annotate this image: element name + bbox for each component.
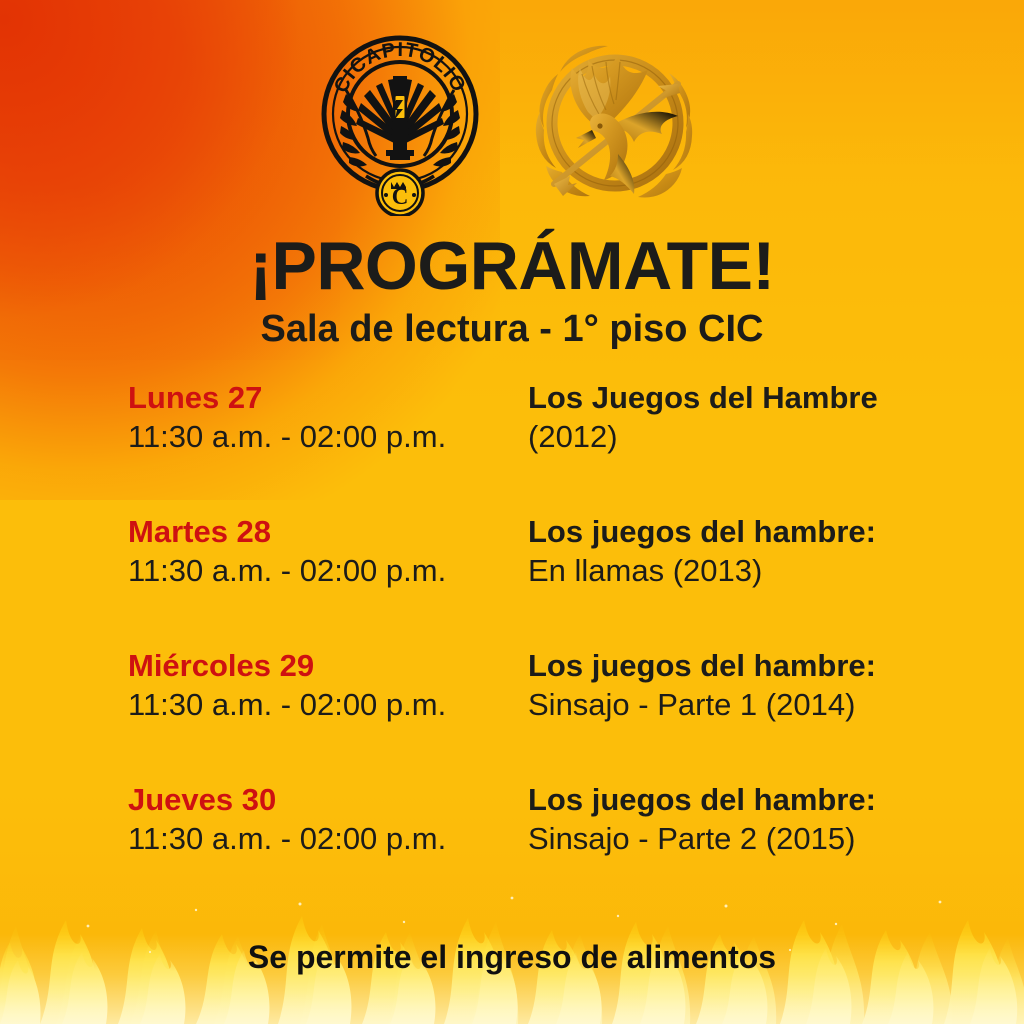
schedule-time: 11:30 a.m. - 02:00 p.m. xyxy=(128,685,528,725)
schedule-day: Jueves 30 xyxy=(128,782,528,819)
schedule-time: 11:30 a.m. - 02:00 p.m. xyxy=(128,819,528,859)
page-subtitle: Sala de lectura - 1° piso CIC xyxy=(0,310,1024,350)
schedule-what: Los juegos del hambre: En llamas (2013) xyxy=(528,514,928,591)
schedule-what: Los Juegos del Hambre (2012) xyxy=(528,380,928,457)
movie-subtitle: Sinsajo - Parte 2 (2015) xyxy=(528,819,928,859)
schedule-list: Lunes 27 11:30 a.m. - 02:00 p.m. Los Jue… xyxy=(128,380,928,916)
footer-note: Se permite el ingreso de alimentos xyxy=(0,939,1024,976)
schedule-day: Miércoles 29 xyxy=(128,648,528,685)
schedule-when: Lunes 27 11:30 a.m. - 02:00 p.m. xyxy=(128,380,528,457)
schedule-what: Los juegos del hambre: Sinsajo - Parte 1… xyxy=(528,648,928,725)
schedule-row: Jueves 30 11:30 a.m. - 02:00 p.m. Los ju… xyxy=(128,782,928,916)
schedule-row: Martes 28 11:30 a.m. - 02:00 p.m. Los ju… xyxy=(128,514,928,648)
schedule-when: Miércoles 29 11:30 a.m. - 02:00 p.m. xyxy=(128,648,528,725)
schedule-day: Lunes 27 xyxy=(128,380,528,417)
movie-subtitle: (2012) xyxy=(528,417,928,457)
schedule-time: 11:30 a.m. - 02:00 p.m. xyxy=(128,417,528,457)
schedule-row: Lunes 27 11:30 a.m. - 02:00 p.m. Los Jue… xyxy=(128,380,928,514)
movie-subtitle: Sinsajo - Parte 1 (2014) xyxy=(528,685,928,725)
schedule-when: Martes 28 11:30 a.m. - 02:00 p.m. xyxy=(128,514,528,591)
movie-title: Los juegos del hambre: xyxy=(528,514,928,551)
movie-subtitle: En llamas (2013) xyxy=(528,551,928,591)
header-block: ¡PROGRÁMATE! Sala de lectura - 1° piso C… xyxy=(0,232,1024,350)
schedule-what: Los juegos del hambre: Sinsajo - Parte 2… xyxy=(528,782,928,859)
capitol-seal-icon: CICAPITOLIO xyxy=(320,30,480,216)
page-title: ¡PROGRÁMATE! xyxy=(0,232,1024,300)
movie-title: Los juegos del hambre: xyxy=(528,648,928,685)
schedule-day: Martes 28 xyxy=(128,514,528,551)
mockingjay-icon xyxy=(526,34,704,212)
logo-row: CICAPITOLIO xyxy=(0,28,1024,218)
schedule-when: Jueves 30 11:30 a.m. - 02:00 p.m. xyxy=(128,782,528,859)
schedule-row: Miércoles 29 11:30 a.m. - 02:00 p.m. Los… xyxy=(128,648,928,782)
schedule-time: 11:30 a.m. - 02:00 p.m. xyxy=(128,551,528,591)
poster-canvas: CICAPITOLIO xyxy=(0,0,1024,1024)
movie-title: Los Juegos del Hambre xyxy=(528,380,928,417)
movie-title: Los juegos del hambre: xyxy=(528,782,928,819)
svg-text:C: C xyxy=(392,184,409,209)
